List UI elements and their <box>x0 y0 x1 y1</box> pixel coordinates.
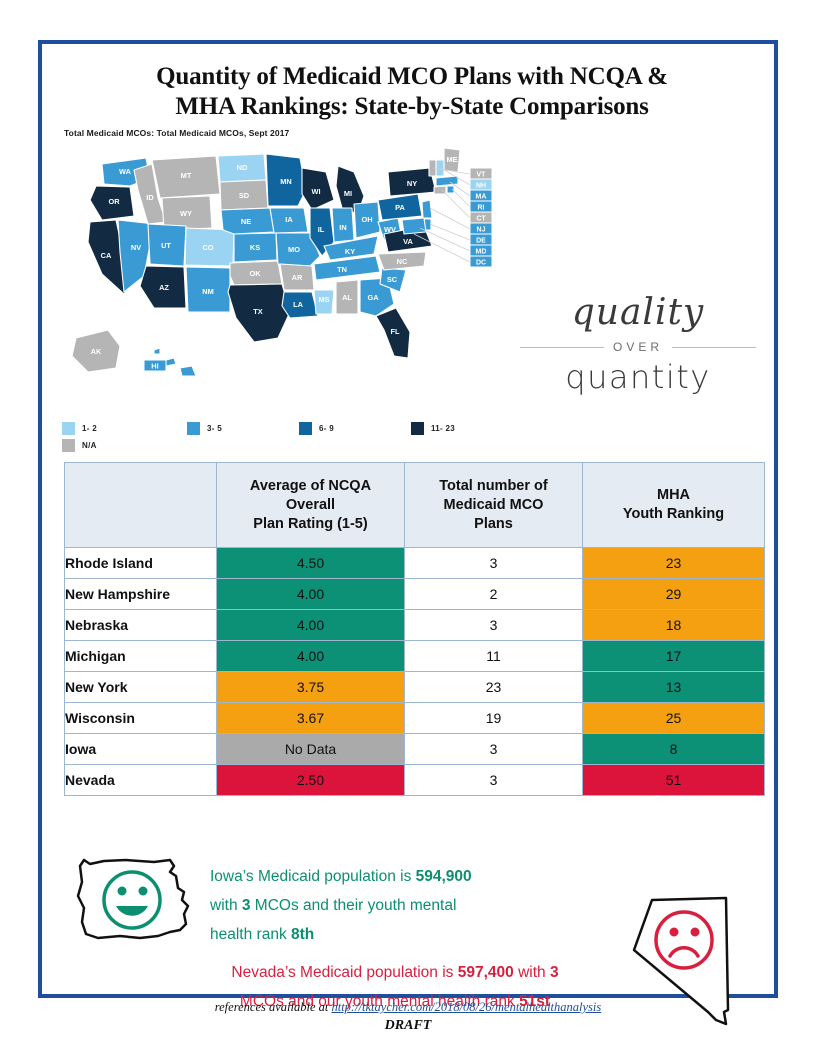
map-label-TN: TN <box>337 265 347 274</box>
table-cell-ncqa-rating: 3.75 <box>217 672 405 703</box>
map-label-CO: CO <box>202 243 213 252</box>
map-label-SD: SD <box>239 191 250 200</box>
legend-swatch-na <box>62 439 75 452</box>
map-label-WY: WY <box>180 209 192 218</box>
nevada-line1-c: with <box>514 964 550 981</box>
map-ne-label-DC: DC <box>476 260 486 267</box>
map-state-NJ <box>422 200 432 218</box>
legend-row-2: N/A <box>62 437 492 454</box>
map-label-WA: WA <box>119 167 132 176</box>
over-word: OVER <box>604 340 672 354</box>
map-label-ME: ME <box>446 155 457 164</box>
legend-label-na: N/A <box>82 441 97 450</box>
table-cell-state: New York <box>65 672 217 703</box>
page-title-line2: MHA Rankings: State-by-State Comparisons <box>102 92 722 122</box>
legend-item-na: N/A <box>62 439 97 452</box>
map-label-MI: MI <box>344 189 352 198</box>
legend-item-11-23: 11- 23 <box>411 422 455 435</box>
map-label-WV: WV <box>384 225 396 234</box>
frown-right-eye <box>691 928 700 937</box>
references-line: references available at http://tktaycher… <box>0 1000 816 1015</box>
map-label-ND: ND <box>237 163 248 172</box>
map-label-OR: OR <box>108 197 120 206</box>
map-label-HI-box: HI <box>151 362 158 371</box>
legend-item-3-5: 3- 5 <box>187 422 299 435</box>
nevada-line-1: Nevada’s Medicaid population is 597,400 … <box>160 958 630 987</box>
table-cell-mha-rank: 51 <box>583 765 765 796</box>
table-row: New York3.752313 <box>65 672 765 703</box>
map-ne-label-MD: MD <box>476 249 487 256</box>
map-label-OH: OH <box>361 215 372 224</box>
table-header-row: Average of NCQA Overall Plan Rating (1-5… <box>65 463 765 548</box>
map-label-LA: LA <box>293 300 304 309</box>
table-row: Rhode Island4.50323 <box>65 548 765 579</box>
header-mha-ranking: MHA Youth Ranking <box>583 463 765 548</box>
map-label-KS: KS <box>250 243 260 252</box>
page-title-line1: Quantity of Medicaid MCO Plans with NCQA… <box>102 62 722 92</box>
table-cell-mha-rank: 13 <box>583 672 765 703</box>
map-ne-label-NH: NH <box>476 183 486 190</box>
table-cell-total-plans: 19 <box>405 703 583 734</box>
legend-label-3-5: 3- 5 <box>207 424 222 433</box>
references-url-link[interactable]: http://tktaycher.com/2018/08/26/mentalhe… <box>331 1000 601 1014</box>
table-cell-mha-rank: 8 <box>583 734 765 765</box>
map-label-IA: IA <box>285 215 293 224</box>
legend-label-1-2: 1- 2 <box>82 424 97 433</box>
map-ne-callout-column: VT NH MA RI CT NJ DE MD DC <box>470 168 492 267</box>
legend-swatch-6-9 <box>299 422 312 435</box>
map-label-FL: FL <box>390 327 400 336</box>
iowa-state-outline <box>70 856 205 961</box>
map-label-OK: OK <box>249 269 261 278</box>
map-label-AL: AL <box>342 293 352 302</box>
table-cell-ncqa-rating: 3.67 <box>217 703 405 734</box>
map-state-CT <box>434 186 446 194</box>
iowa-line-2: with 3 MCOs and their youth mental <box>210 891 540 920</box>
references-prefix: references available at <box>215 1000 332 1014</box>
page-footer: references available at http://tktaycher… <box>0 1000 816 1034</box>
table-cell-state: Nevada <box>65 765 217 796</box>
iowa-population-value: 594,900 <box>416 868 472 885</box>
table-cell-total-plans: 11 <box>405 641 583 672</box>
table-cell-ncqa-rating: No Data <box>217 734 405 765</box>
legend-swatch-3-5 <box>187 422 200 435</box>
map-label-TX: TX <box>253 307 263 316</box>
iowa-line2-c: MCOs and their youth mental <box>251 897 457 914</box>
map-label-AK: AK <box>91 347 102 356</box>
iowa-line-1: Iowa’s Medicaid population is 594,900 <box>210 862 540 891</box>
over-divider: OVER <box>520 340 756 354</box>
table-cell-total-plans: 3 <box>405 765 583 796</box>
table-cell-state: New Hampshire <box>65 579 217 610</box>
iowa-mco-count: 3 <box>242 897 251 914</box>
table-cell-ncqa-rating: 4.00 <box>217 579 405 610</box>
header-mha-line1: MHA <box>583 486 764 505</box>
header-ncqa-line2: Overall <box>217 496 404 515</box>
divider-rule-left <box>520 347 604 348</box>
table-cell-total-plans: 2 <box>405 579 583 610</box>
map-label-KY: KY <box>345 247 355 256</box>
smiley-right-eye <box>139 887 148 896</box>
header-total-plans: Total number of Medicaid MCO Plans <box>405 463 583 548</box>
map-subtitle: Total Medicaid MCOs: Total Medicaid MCOs… <box>64 128 289 138</box>
map-label-MN: MN <box>280 177 292 186</box>
legend-item-1-2: 1- 2 <box>62 422 187 435</box>
table-row: IowaNo Data38 <box>65 734 765 765</box>
table-cell-mha-rank: 29 <box>583 579 765 610</box>
map-label-PA: PA <box>395 203 405 212</box>
map-label-ID: ID <box>146 193 154 202</box>
table-cell-state: Michigan <box>65 641 217 672</box>
map-ne-label-CT: CT <box>476 216 486 223</box>
map-label-AZ: AZ <box>159 283 169 292</box>
header-mha-line2: Youth Ranking <box>583 505 764 524</box>
map-label-SC: SC <box>387 275 398 284</box>
table-cell-ncqa-rating: 2.50 <box>217 765 405 796</box>
table-cell-mha-rank: 17 <box>583 641 765 672</box>
header-plans-line3: Plans <box>405 515 582 534</box>
map-label-CA: CA <box>101 251 112 260</box>
table-cell-state: Iowa <box>65 734 217 765</box>
nevada-population-value: 597,400 <box>458 964 514 981</box>
table-cell-total-plans: 3 <box>405 548 583 579</box>
nevada-mco-count: 3 <box>550 964 559 981</box>
map-ne-label-VT: VT <box>477 172 487 179</box>
table-row: Wisconsin3.671925 <box>65 703 765 734</box>
legend-swatch-1-2 <box>62 422 75 435</box>
table-row: Michigan4.001117 <box>65 641 765 672</box>
table-cell-total-plans: 3 <box>405 610 583 641</box>
state-comparison-table: Average of NCQA Overall Plan Rating (1-5… <box>64 462 765 796</box>
iowa-line-3: health rank 8th <box>210 920 540 949</box>
iowa-rank-value: 8th <box>291 926 314 943</box>
map-label-IN: IN <box>339 223 346 232</box>
header-plans-line2: Medicaid MCO <box>405 496 582 515</box>
table-cell-total-plans: 3 <box>405 734 583 765</box>
map-svg: WA OR CA NV ID MT WY UT CO AZ NM ND SD N… <box>58 142 508 432</box>
map-label-WI: WI <box>311 187 320 196</box>
header-plans-line1: Total number of <box>405 477 582 496</box>
quantity-word: quantity <box>520 358 756 396</box>
table-cell-mha-rank: 23 <box>583 548 765 579</box>
nevada-line1-a: Nevada’s Medicaid population is <box>231 964 457 981</box>
map-label-NE: NE <box>241 217 251 226</box>
iowa-callout-text: Iowa’s Medicaid population is 594,900 wi… <box>210 862 540 949</box>
map-label-IL: IL <box>318 225 325 234</box>
table-cell-total-plans: 23 <box>405 672 583 703</box>
map-label-VA: VA <box>403 237 413 246</box>
map-label-MS: MS <box>318 295 329 304</box>
legend-label-6-9: 6- 9 <box>319 424 334 433</box>
content-frame: Quantity of Medicaid MCO Plans with NCQA… <box>38 40 778 998</box>
map-legend: 1- 2 3- 5 6- 9 11- 23 N/A <box>62 420 492 454</box>
table-cell-mha-rank: 18 <box>583 610 765 641</box>
map-state-MA <box>436 176 458 186</box>
map-label-NC: NC <box>397 257 408 266</box>
map-ne-label-MA: MA <box>476 194 487 201</box>
table-cell-state: Rhode Island <box>65 548 217 579</box>
page-title: Quantity of Medicaid MCO Plans with NCQA… <box>102 62 722 122</box>
frown-left-eye <box>670 928 679 937</box>
map-label-GA: GA <box>367 293 379 302</box>
iowa-line1-a: Iowa’s Medicaid population is <box>210 868 416 885</box>
map-state-NH <box>436 160 444 176</box>
iowa-line2-a: with <box>210 897 242 914</box>
draft-label: DRAFT <box>0 1018 816 1034</box>
map-ne-label-RI: RI <box>478 205 485 212</box>
table-row: New Hampshire4.00229 <box>65 579 765 610</box>
quality-over-quantity-mark: quality OVER quantity <box>520 292 756 396</box>
map-ne-label-NJ: NJ <box>477 227 486 234</box>
table-row: Nevada2.50351 <box>65 765 765 796</box>
table-cell-state: Wisconsin <box>65 703 217 734</box>
header-ncqa-rating: Average of NCQA Overall Plan Rating (1-5… <box>217 463 405 548</box>
legend-swatch-11-23 <box>411 422 424 435</box>
table-cell-state: Nebraska <box>65 610 217 641</box>
legend-label-11-23: 11- 23 <box>431 424 455 433</box>
divider-rule-right <box>672 347 756 348</box>
table-cell-ncqa-rating: 4.00 <box>217 610 405 641</box>
header-state-blank <box>65 463 217 548</box>
legend-row-1: 1- 2 3- 5 6- 9 11- 23 <box>62 420 492 437</box>
table-row: Nebraska4.00318 <box>65 610 765 641</box>
map-label-MO: MO <box>288 245 300 254</box>
us-choropleth-map: WA OR CA NV ID MT WY UT CO AZ NM ND SD N… <box>58 142 508 432</box>
header-ncqa-line1: Average of NCQA <box>217 477 404 496</box>
map-label-AR: AR <box>292 273 303 282</box>
map-label-UT: UT <box>161 241 171 250</box>
map-state-MD <box>402 218 426 234</box>
legend-item-6-9: 6- 9 <box>299 422 411 435</box>
map-label-NV: NV <box>131 243 141 252</box>
table-body: Rhode Island4.50323New Hampshire4.00229N… <box>65 548 765 796</box>
iowa-line3-a: health rank <box>210 926 291 943</box>
header-ncqa-line3: Plan Rating (1-5) <box>217 515 404 534</box>
map-label-MT: MT <box>181 171 192 180</box>
map-ne-label-DE: DE <box>476 238 486 245</box>
map-label-NM: NM <box>202 287 214 296</box>
map-state-TN <box>314 256 380 280</box>
table-cell-ncqa-rating: 4.50 <box>217 548 405 579</box>
table-cell-ncqa-rating: 4.00 <box>217 641 405 672</box>
smiley-left-eye <box>118 887 127 896</box>
map-label-NY: NY <box>407 179 417 188</box>
quality-word: quality <box>520 292 756 334</box>
table-cell-mha-rank: 25 <box>583 703 765 734</box>
infographic-page: Quantity of Medicaid MCO Plans with NCQA… <box>0 0 816 1056</box>
